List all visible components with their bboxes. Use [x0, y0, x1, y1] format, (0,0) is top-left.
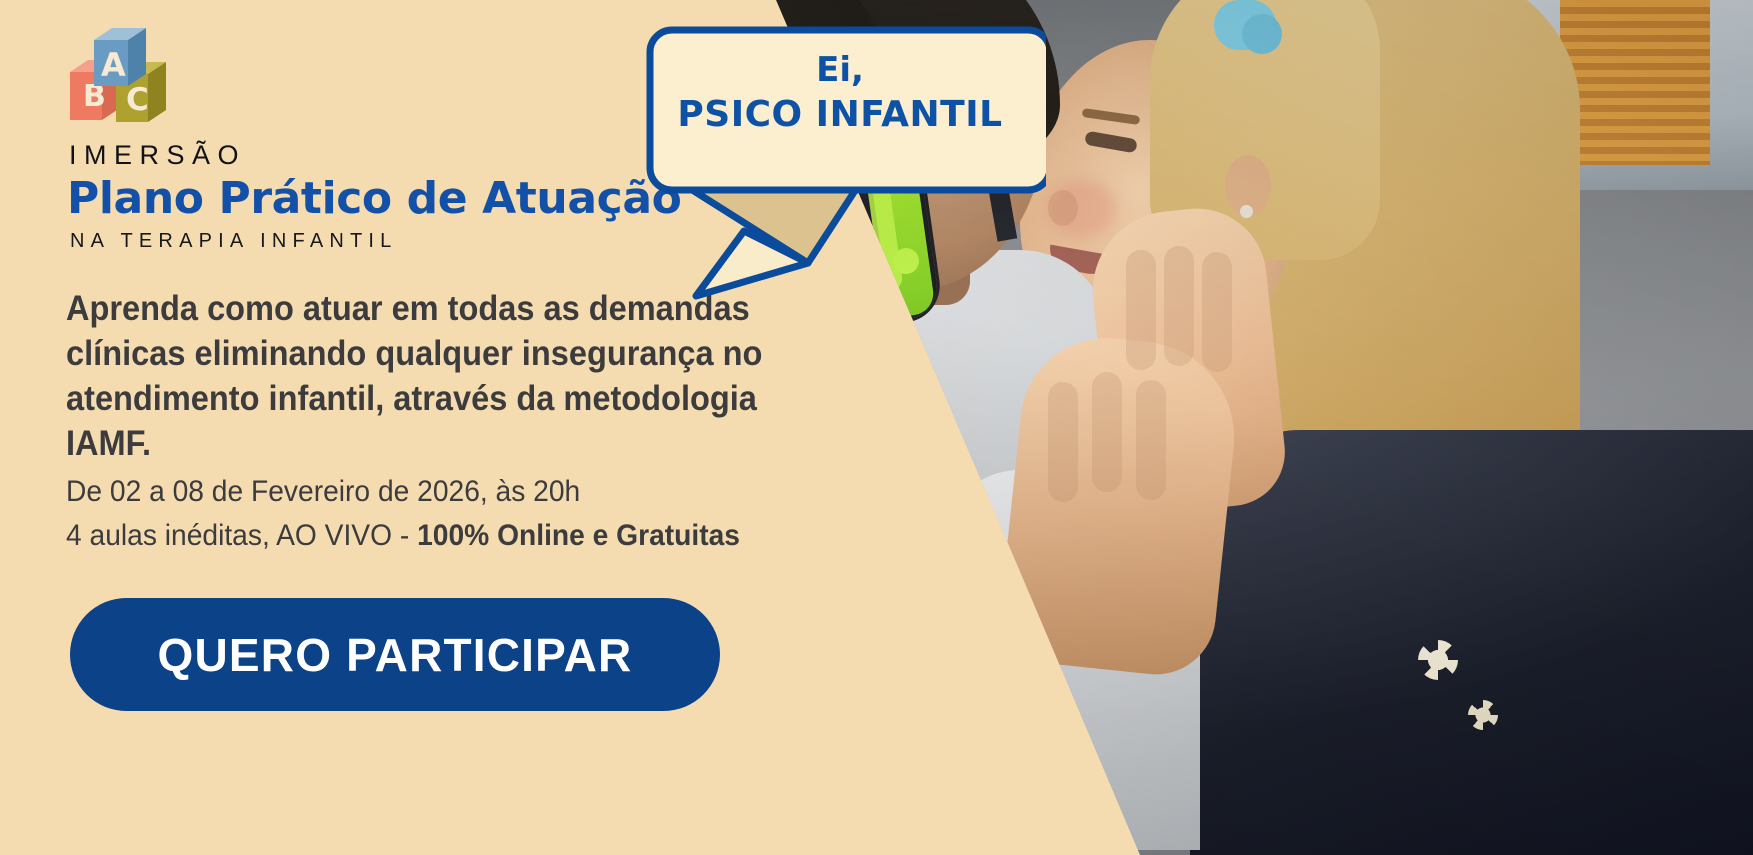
speech-bubble-text: Ei, PSICO INFANTIL [660, 48, 1020, 138]
lede-paragraph: Aprenda como atuar em todas as demandas … [66, 286, 810, 466]
detail-classes-line: 4 aulas inéditas, AO VIVO - 100% Online … [66, 514, 959, 558]
bubble-line-1: Ei, [660, 48, 1020, 92]
banner-root: B C A IMERSÃO Plano Prático de Atuação N… [0, 0, 1753, 855]
detail-classes-strong: 100% Online e Gratuitas [417, 519, 740, 552]
abc-blocks-logo: B C A [70, 28, 190, 132]
eyebrow-imersao: IMERSÃO [69, 140, 246, 171]
detail-date-line: De 02 a 08 de Fevereiro de 2026, às 20h [66, 470, 959, 514]
svg-text:C: C [126, 82, 149, 118]
svg-text:A: A [101, 46, 126, 84]
page-title: Plano Prático de Atuação [67, 173, 681, 225]
page-subtitle: NA TERAPIA INFANTIL [70, 230, 398, 253]
quero-participar-button[interactable]: QUERO PARTICIPAR [70, 598, 720, 711]
bubble-line-2: PSICO INFANTIL [660, 92, 1020, 138]
block-a-icon: A [94, 28, 146, 86]
event-details: De 02 a 08 de Fevereiro de 2026, às 20h … [66, 470, 959, 558]
detail-classes-prefix: 4 aulas inéditas, AO VIVO - [66, 519, 417, 552]
